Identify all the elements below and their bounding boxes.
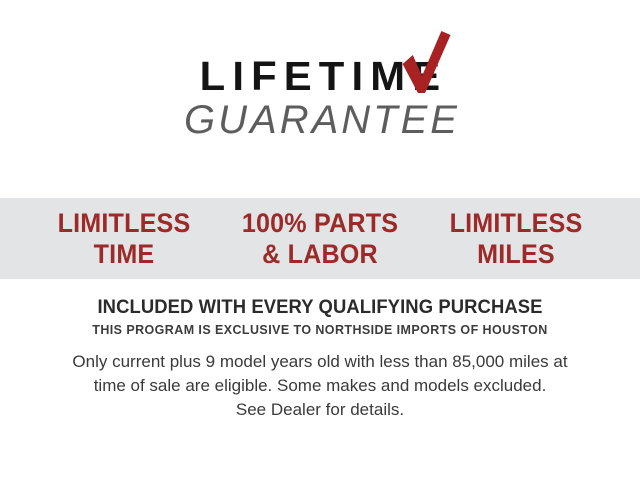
benefit-line-2: TIME [33,239,215,270]
benefit-line-1: 100% PARTS [242,208,398,238]
logo-guarantee-text: GUARANTEE [0,99,640,141]
benefit-parts-and-labor: 100% PARTS & LABOR [229,208,411,270]
benefit-limitless-time: LIMITLESS TIME [33,208,215,270]
benefit-line-1: LIMITLESS [450,208,583,238]
benefit-limitless-miles: LIMITLESS MILES [425,208,607,270]
fineprint-line: See Dealer for details. [28,398,612,422]
benefit-line-2: MILES [425,239,607,270]
subheadline: THIS PROGRAM IS EXCLUSIVE TO NORTHSIDE I… [13,322,627,338]
fineprint-line: time of sale are eligible. Some makes an… [28,374,612,398]
lifetime-guarantee-ad: LIFETIME GUARANTEE LIMITLESS TIME 100% P… [0,0,640,480]
logo-block: LIFETIME GUARANTEE [0,54,640,141]
benefit-line-2: & LABOR [229,239,411,270]
logo-lifetime-text: LIFETIME [200,53,448,99]
headline: INCLUDED WITH EVERY QUALIFYING PURCHASE [10,297,631,319]
fineprint-disclaimer: Only current plus 9 model years old with… [28,350,612,422]
benefits-banner: LIMITLESS TIME 100% PARTS & LABOR LIMITL… [0,198,640,279]
logo-lifetime-wordmark: LIFETIME [193,54,448,98]
fineprint-line: Only current plus 9 model years old with… [28,350,612,374]
benefit-line-1: LIMITLESS [58,208,191,238]
